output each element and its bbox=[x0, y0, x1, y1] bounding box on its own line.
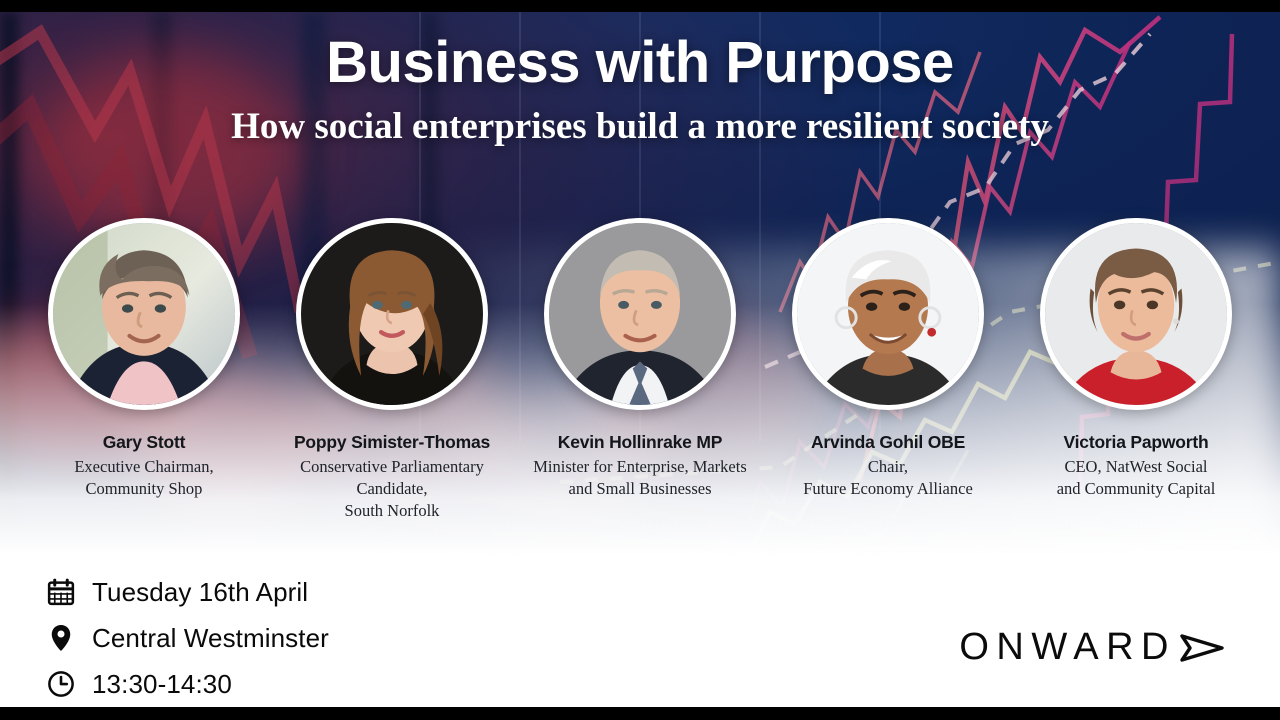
speaker-card: Gary Stott Executive Chairman, Community… bbox=[20, 218, 268, 500]
poster-stage: Business with Purpose How social enterpr… bbox=[0, 12, 1280, 707]
presentation-slide: Business with Purpose How social enterpr… bbox=[0, 0, 1280, 720]
speaker-name: Gary Stott bbox=[103, 432, 186, 453]
location-pin-icon bbox=[44, 621, 78, 655]
detail-row-date: Tuesday 16th April bbox=[44, 569, 329, 615]
speaker-role: Minister for Enterprise, Markets and Sma… bbox=[533, 456, 747, 500]
speaker-avatar bbox=[544, 218, 736, 410]
title-block: Business with Purpose How social enterpr… bbox=[0, 30, 1280, 149]
event-details: Tuesday 16th April Central Westminster bbox=[44, 569, 329, 707]
speaker-card: Poppy Simister-Thomas Conservative Parli… bbox=[268, 218, 516, 521]
onward-wordmark: ONWARD bbox=[959, 626, 1176, 669]
speaker-role: Chair, Future Economy Alliance bbox=[803, 456, 973, 500]
speaker-avatar bbox=[48, 218, 240, 410]
speaker-role: Conservative Parliamentary Candidate, So… bbox=[300, 456, 484, 521]
arrow-chevron-icon bbox=[1174, 628, 1228, 668]
calendar-icon bbox=[44, 575, 78, 609]
event-date: Tuesday 16th April bbox=[92, 577, 308, 608]
letterbox-bottom bbox=[0, 707, 1280, 720]
onward-logo[interactable]: ONWARD bbox=[959, 626, 1228, 669]
clock-icon bbox=[44, 667, 78, 701]
speaker-name: Arvinda Gohil OBE bbox=[811, 432, 965, 453]
speaker-role: Executive Chairman, Community Shop bbox=[74, 456, 213, 500]
detail-row-time: 13:30-14:30 bbox=[44, 661, 329, 707]
detail-row-location: Central Westminster bbox=[44, 615, 329, 661]
speaker-card: Victoria Papworth CEO, NatWest Social an… bbox=[1012, 218, 1260, 500]
speaker-name: Poppy Simister-Thomas bbox=[294, 432, 490, 453]
event-location: Central Westminster bbox=[92, 623, 329, 654]
speaker-card: Kevin Hollinrake MP Minister for Enterpr… bbox=[516, 218, 764, 500]
speaker-role: CEO, NatWest Social and Community Capita… bbox=[1057, 456, 1216, 500]
event-subtitle: How social enterprises build a more resi… bbox=[0, 105, 1280, 149]
speaker-name: Kevin Hollinrake MP bbox=[558, 432, 722, 453]
event-time: 13:30-14:30 bbox=[92, 669, 232, 700]
speaker-avatar bbox=[1040, 218, 1232, 410]
letterbox-top bbox=[0, 0, 1280, 12]
speaker-card: Arvinda Gohil OBE Chair, Future Economy … bbox=[764, 218, 1012, 500]
speaker-avatar bbox=[792, 218, 984, 410]
speaker-list: Gary Stott Executive Chairman, Community… bbox=[20, 218, 1260, 521]
speaker-name: Victoria Papworth bbox=[1063, 432, 1208, 453]
speaker-avatar bbox=[296, 218, 488, 410]
event-title: Business with Purpose bbox=[0, 30, 1280, 97]
